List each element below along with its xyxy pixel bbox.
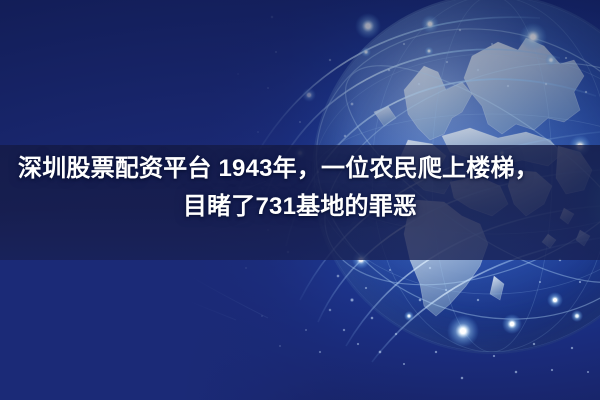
headline-line-1: 深圳股票配资平台 1943年，一位农民爬上楼梯，: [12, 150, 588, 188]
page-title: 深圳股票配资平台 1943年，一位农民爬上楼梯， 目睹了731基地的罪恶: [0, 150, 600, 226]
banner-image: 深圳股票配资平台 1943年，一位农民爬上楼梯， 目睹了731基地的罪恶: [0, 0, 600, 400]
headline-line-2: 目睹了731基地的罪恶: [12, 188, 588, 226]
